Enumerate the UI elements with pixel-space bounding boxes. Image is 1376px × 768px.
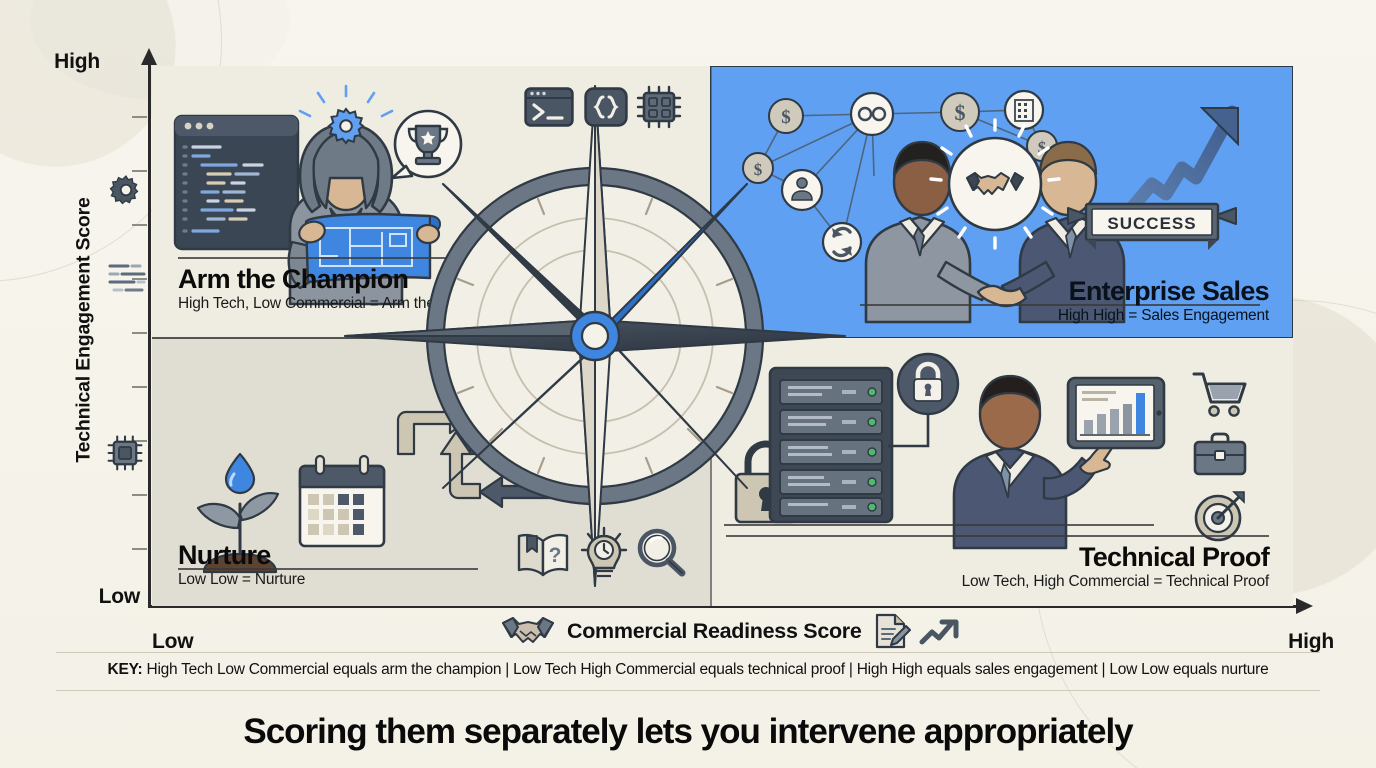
- y-axis-arrow-icon: [141, 48, 157, 65]
- y-axis-low-label: Low: [99, 585, 140, 609]
- gear-icon: [108, 172, 144, 208]
- key-divider-top: [56, 652, 1320, 653]
- svg-text:?: ?: [549, 544, 562, 567]
- caption-technical-proof: Technical Proof Low Tech, High Commercia…: [710, 535, 1293, 590]
- x-axis-title: Commercial Readiness Score: [567, 619, 862, 644]
- caption-rule: [726, 535, 1269, 537]
- headline: Scoring them separately lets you interve…: [0, 712, 1376, 752]
- x-axis-high-label: High: [1288, 630, 1334, 654]
- y-axis-title: Technical Engagement Score: [73, 197, 96, 462]
- trend-up-icon: [920, 614, 960, 648]
- server-rack-icon: [768, 366, 894, 524]
- key-divider-bottom: [56, 690, 1320, 691]
- code-lines-icon: [106, 262, 148, 296]
- y-axis-tick: [132, 494, 147, 496]
- quadrant-title: Technical Proof: [726, 543, 1269, 571]
- y-axis-tick: [132, 332, 147, 334]
- briefcase-icon: [1192, 430, 1248, 478]
- key-text: High Tech Low Commercial equals arm the …: [147, 661, 1269, 678]
- compass-rose-icon: [420, 71, 770, 601]
- ground-line: [724, 524, 1154, 526]
- infographic-page: High Low Technical Engagement Score: [0, 0, 1376, 768]
- quadrant-matrix: Arm the Champion High Tech, Low Commerci…: [152, 66, 1293, 606]
- curly-braces-icon: [584, 87, 628, 127]
- svg-text:SUCCESS: SUCCESS: [1107, 214, 1196, 233]
- quadrant-subtitle: High High = Sales Engagement: [726, 307, 1269, 324]
- y-axis-tick: [132, 116, 147, 118]
- y-axis-tick: [132, 548, 147, 550]
- quadrant-title: Enterprise Sales: [726, 277, 1269, 305]
- businessman-tablet-icon: [940, 360, 1170, 550]
- svg-text:$: $: [781, 107, 791, 128]
- key-strip: KEY: High Tech Low Commercial equals arm…: [0, 661, 1376, 679]
- shopping-cart-icon: [1192, 370, 1248, 418]
- magnifier-icon: [636, 528, 688, 578]
- handshake-icon: [500, 614, 556, 648]
- microchip-icon: [106, 434, 144, 472]
- quadrant-enterprise-sales[interactable]: $ $ $ $: [710, 66, 1293, 338]
- x-axis-low-label: Low: [152, 630, 193, 654]
- success-ribbon: SUCCESS: [1068, 202, 1236, 254]
- quadrant-technical-proof[interactable]: Technical Proof Low Tech, High Commercia…: [710, 338, 1293, 606]
- y-axis-tick: [132, 224, 147, 226]
- lightbulb-clock-icon: [580, 526, 628, 580]
- y-axis-high-label: High: [54, 50, 100, 74]
- book-question-icon: ?: [516, 531, 570, 577]
- svg-text:$: $: [955, 100, 966, 125]
- terminal-icon: [524, 87, 574, 127]
- y-axis-line: [148, 62, 151, 608]
- document-pen-icon: [873, 612, 909, 650]
- x-axis-arrow-icon: [1296, 598, 1313, 614]
- quadrant-subtitle: Low Tech, High Commercial = Technical Pr…: [726, 573, 1269, 590]
- y-axis-tick: [132, 386, 147, 388]
- key-label: KEY:: [108, 661, 143, 678]
- x-axis-title-group: Commercial Readiness Score: [500, 612, 960, 650]
- microchip-icon: [636, 85, 682, 129]
- caption-enterprise-sales: Enterprise Sales High High = Sales Engag…: [710, 271, 1293, 324]
